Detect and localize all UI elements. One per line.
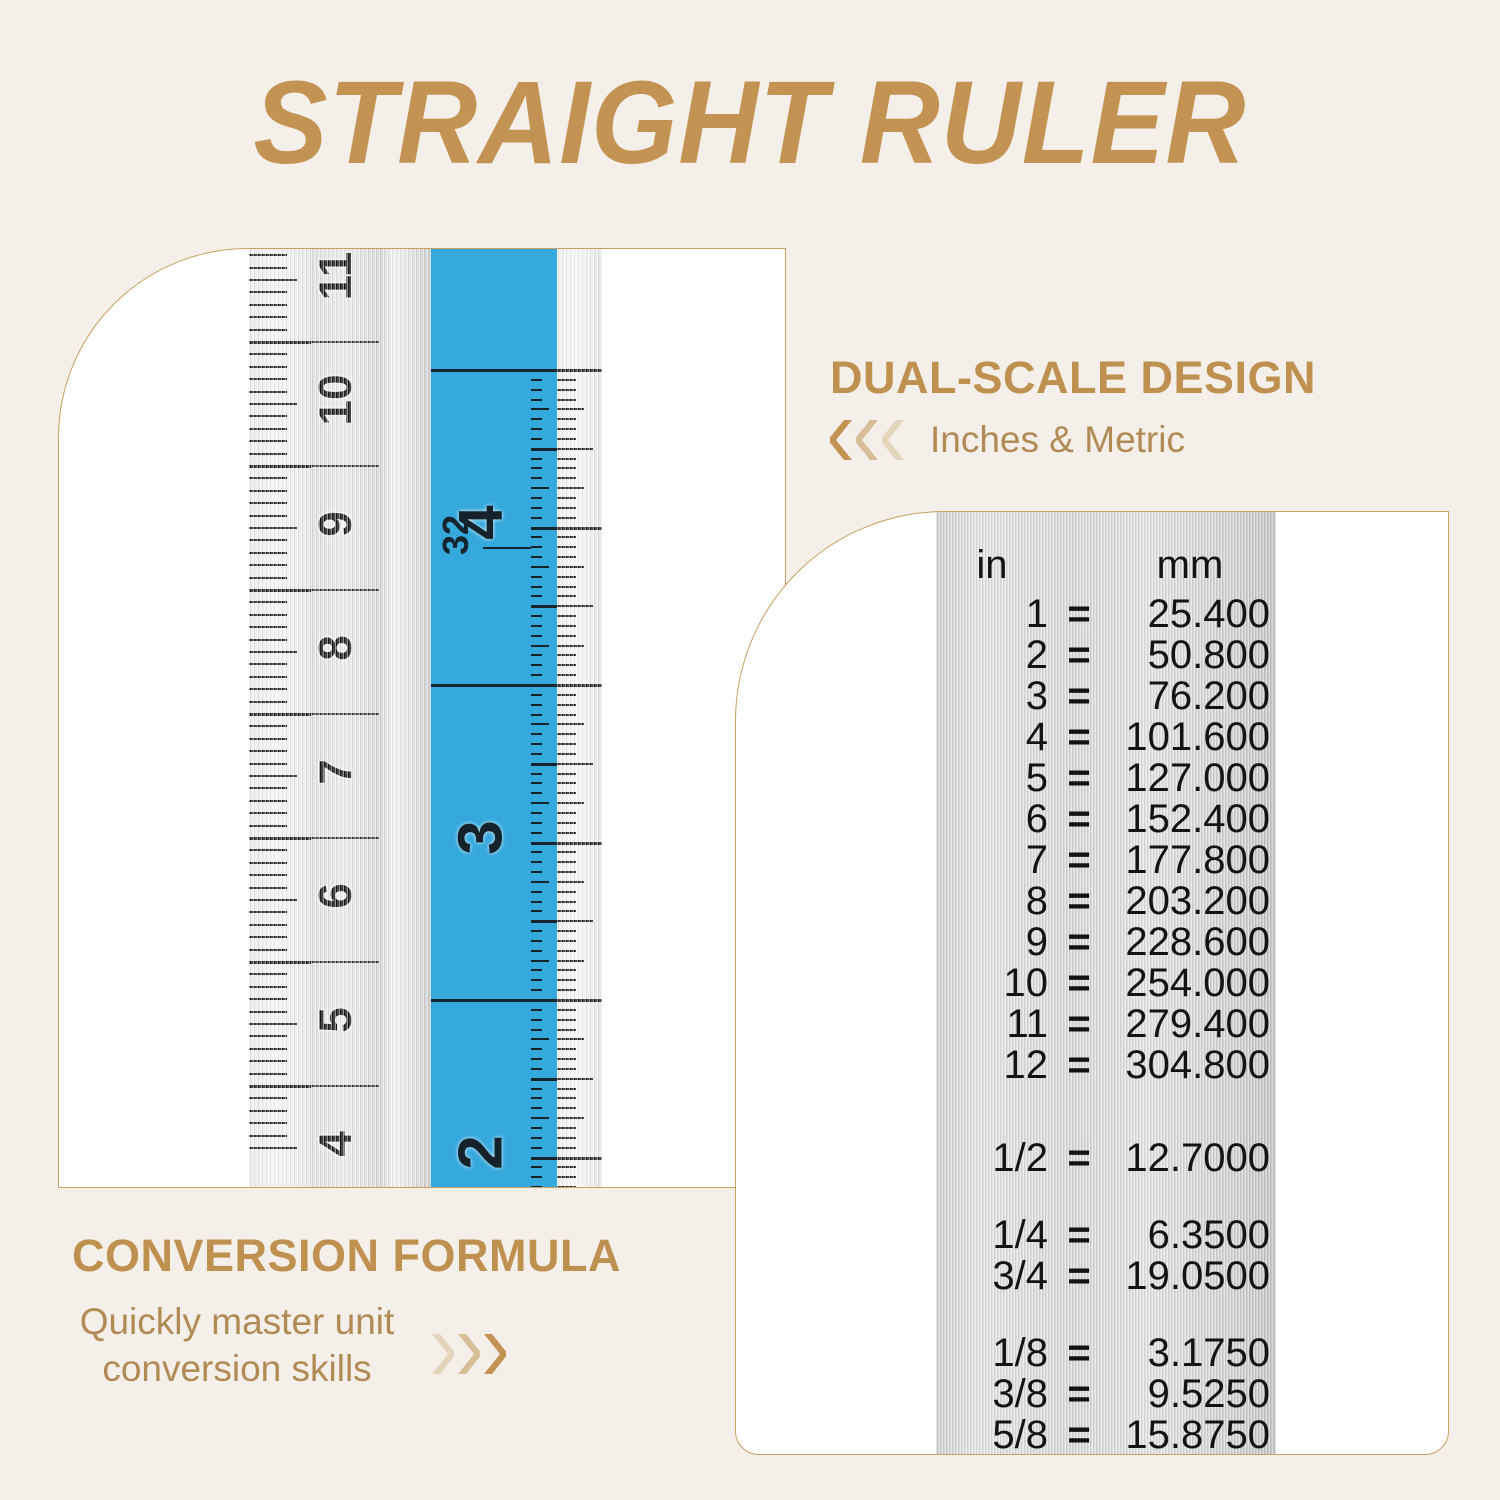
ruler-tick [531,861,542,863]
ruler-tick [531,989,542,991]
ruler-inch-label: 3 [446,782,517,892]
ruler-tick [531,389,542,391]
ruler-tick [249,874,287,876]
ruler-fraction-divider [483,547,531,549]
ruler-cm-label: 4 [308,1104,362,1184]
table-row: 5=127.000 [936,758,1276,799]
ruler-tick [249,1147,297,1149]
ruler-tick [557,1127,576,1129]
page-title: STRAIGHT RULER [45,55,1455,191]
cell-mm: 9.5250 [1110,1372,1270,1417]
ruler-inch-divider [431,684,531,687]
ruler-tick [557,389,576,391]
ruler-tick [557,1078,593,1080]
ruler-tick [557,743,576,745]
ruler-tick [249,1085,311,1088]
ruler-tick [557,448,593,450]
table-row: 11=279.400 [936,1004,1276,1045]
ruler-tick [531,782,542,784]
table-row: 1/8=3.1750 [936,1333,1276,1374]
ruler-tick [557,1117,584,1119]
ruler-tick [249,800,287,802]
ruler-tick [249,701,287,703]
ruler-tick [249,391,287,393]
ruler-tick [249,787,287,789]
ruler-tick [557,477,576,479]
ruler-tick [249,936,287,938]
ruler-tick [531,507,542,509]
ruler-tick [557,1009,576,1011]
cell-mm: 12.7000 [1110,1136,1270,1181]
ruler-tick [531,1097,542,1099]
ruler-tick [531,497,542,499]
ruler-tick [249,1135,287,1137]
ruler-cm-divider [311,713,379,715]
ruler-tick [249,577,287,579]
ruler-tick [531,1137,542,1139]
cell-in: 2 [936,633,1048,678]
ruler-tick [531,733,542,735]
ruler-tick [531,851,542,853]
ruler-tick [557,1166,576,1168]
cell-in: 1 [936,592,1048,637]
ruler-tick [531,1166,542,1168]
ruler-tick [557,645,584,647]
ruler-plain-metal-band [379,249,431,1187]
ruler-tick [557,891,576,893]
ruler-tick [249,1035,287,1037]
ruler-tick [249,688,287,690]
cell-equals: = [1048,1213,1110,1258]
ruler-tick [531,1088,542,1090]
ruler-tick [531,743,542,745]
ruler-tick [557,950,576,952]
ruler-tick [249,911,287,913]
ruler-tick [531,792,542,794]
ruler-tick [249,428,287,430]
conversion-table: in mm 1=25.4002=50.8003=76.2004=101.6005… [936,512,1276,1454]
ruler-tick [531,1147,542,1149]
table-row: 1/4=6.3500 [936,1215,1276,1256]
ruler-tick [249,353,287,355]
header-mm: mm [1110,543,1270,588]
ruler-image: 1110987654 43232 [249,249,602,1187]
conversion-table-panel: in mm 1=25.4002=50.8003=76.2004=101.6005… [735,511,1449,1455]
ruler-cm-label: 10 [308,360,362,440]
ruler-tick [249,663,287,665]
cell-mm: 203.200 [1110,879,1270,924]
chevron-right-icon-3 [480,1332,506,1376]
ruler-tick [557,782,576,784]
cell-equals: = [1048,961,1110,1006]
ruler-tick [557,595,576,597]
ruler-tick [557,960,584,962]
ruler-cm-label: 7 [308,732,362,812]
cell-mm: 177.800 [1110,838,1270,883]
ruler-tick [557,1107,576,1109]
cell-equals: = [1048,1043,1110,1088]
cell-in: 7 [936,838,1048,883]
ruler-tick [531,940,542,942]
ruler-tick [249,862,287,864]
cell-equals: = [1048,1002,1110,1047]
ruler-tick [249,515,287,517]
half-inch-rows: 1/2=12.7000 [936,1138,1276,1179]
cell-in: 10 [936,961,1048,1006]
ruler-tick [557,832,576,834]
ruler-inch-divider [431,369,531,372]
ruler-tick [557,753,576,755]
chevron-right-icon-1 [428,1332,454,1376]
ruler-tick [249,1110,287,1112]
ruler-tick [249,415,287,417]
ruler-cm-label: 6 [308,856,362,936]
ruler-tick [531,910,542,912]
ruler-tick [249,961,311,964]
ruler-tick [531,832,542,834]
ruler-tick [531,1176,542,1178]
ruler-tick [557,586,576,588]
cell-equals: = [1048,715,1110,760]
eighth-inch-rows: 1/8=3.17503/8=9.52505/8=15.8750 [936,1333,1276,1455]
cell-mm: 15.8750 [1110,1413,1270,1455]
ruler-tick [531,1038,549,1040]
ruler-tick [249,949,287,951]
cell-in: 5 [936,756,1048,801]
table-row: 3/4=19.0500 [936,1256,1276,1297]
ruler-tick [557,497,576,499]
table-row: 3/8=9.5250 [936,1374,1276,1415]
ruler-tick [531,802,549,804]
ruler-tick [531,635,542,637]
ruler-tick [557,527,602,530]
cell-mm: 19.0500 [1110,1254,1270,1299]
cell-in: 6 [936,797,1048,842]
table-row: 3=76.200 [936,676,1276,717]
header-in: in [936,543,1048,588]
ruler-tick [557,566,584,568]
cell-in: 1/2 [936,1136,1048,1181]
ruler-tick [531,704,542,706]
ruler-tick [531,605,557,608]
table-row: 8=203.200 [936,881,1276,922]
ruler-cm-divider [311,961,379,963]
ruler-tick [531,714,542,716]
ruler-tick [249,254,287,256]
ruler-tick [557,1097,576,1099]
cell-mm: 101.600 [1110,715,1270,760]
conversion-formula-section: CONVERSION FORMULA Quickly master unit c… [72,1230,621,1393]
ruler-mm-tick-band [249,249,311,1187]
table-row: 6=152.400 [936,799,1276,840]
ruler-tick [531,664,542,666]
cell-mm: 304.800 [1110,1043,1270,1088]
ruler-tick [557,1038,584,1040]
ruler-cm-divider [311,1085,379,1087]
cell-in: 3/4 [936,1254,1048,1299]
ruler-tick [249,304,287,306]
ruler-tick [531,960,549,962]
ruler-cm-label: 11 [308,248,362,316]
ruler-cm-number-band: 1110987654 [311,249,379,1187]
ruler-tick [249,998,287,1000]
ruler-tick [531,1068,542,1070]
ruler-tick [249,490,287,492]
ruler-tick [531,1048,542,1050]
ruler-tick [557,773,576,775]
ruler-tick [557,635,576,637]
ruler-tick [249,564,287,566]
cell-mm: 152.400 [1110,797,1270,842]
ruler-tick [557,408,584,410]
ruler-inch-tick-band [557,249,602,1187]
whole-inch-rows: 1=25.4002=50.8003=76.2004=101.6005=127.0… [936,594,1276,1086]
ruler-tick [557,881,584,883]
ruler-tick [531,930,542,932]
cell-equals: = [1048,756,1110,801]
ruler-tick [531,822,542,824]
ruler-tick [557,664,576,666]
ruler-tick [531,842,557,845]
cell-in: 12 [936,1043,1048,1088]
ruler-tick [557,1019,576,1021]
ruler-tick [531,595,542,597]
ruler-tick [249,973,287,975]
ruler-tick [531,1127,542,1129]
ruler-tick [531,438,542,440]
ruler-tick [531,586,542,588]
ruler-tick [557,694,576,696]
ruler-tick [249,366,287,368]
ruler-tick [531,753,542,755]
ruler-tick [557,723,584,725]
ruler-tick [249,614,287,616]
ruler-tick [531,694,542,696]
cell-in: 9 [936,920,1048,965]
ruler-tick [557,428,576,430]
ruler-tick [249,1023,297,1025]
ruler-tick [249,453,287,455]
ruler-tick [249,589,311,592]
ruler-tick [249,1122,287,1124]
dual-scale-heading: DUAL-SCALE DESIGN [830,352,1316,404]
ruler-tick [531,901,542,903]
ruler-tick [531,408,549,410]
ruler-tick [557,792,576,794]
ruler-tick [557,576,576,578]
ruler-tick [557,1176,576,1178]
cell-equals: = [1048,1372,1110,1417]
ruler-tick [557,654,576,656]
ruler-tick [557,940,576,942]
ruler-tick [531,1009,542,1011]
ruler-tick [557,989,576,991]
cell-mm: 25.400 [1110,592,1270,637]
table-row: 1=25.400 [936,594,1276,635]
ruler-tick [249,986,287,988]
table-row: 9=228.600 [936,922,1276,963]
ruler-tick [531,950,542,952]
table-gap-2 [936,1179,1276,1215]
dual-scale-section: DUAL-SCALE DESIGN Inches & Metric [830,352,1316,462]
ruler-tick [531,566,549,568]
ruler-tick [249,738,287,740]
ruler-tick [249,713,311,716]
table-gap-1 [936,1086,1276,1138]
ruler-tick [249,1060,287,1062]
ruler-tick [249,1097,287,1099]
ruler-cm-divider [311,589,379,591]
cell-equals: = [1048,674,1110,719]
cell-equals: = [1048,879,1110,924]
ruler-tick [557,418,576,420]
cell-equals: = [1048,838,1110,883]
ruler-tick [531,458,542,460]
ruler-cm-divider [311,837,379,839]
ruler-tick [249,279,297,281]
ruler-tick [557,969,576,971]
quarter-inch-rows: 1/4=6.35003/4=19.0500 [936,1215,1276,1297]
ruler-tick [557,1048,576,1050]
cell-equals: = [1048,1136,1110,1181]
ruler-tick [531,615,542,617]
ruler-tick [557,1068,576,1070]
cell-equals: = [1048,797,1110,842]
table-header-row: in mm [936,536,1276,594]
ruler-tick [249,1011,287,1013]
ruler-tick [557,1029,576,1031]
table-row: 4=101.600 [936,717,1276,758]
ruler-tick [531,645,549,647]
ruler-tick [557,546,576,548]
ruler-tick [557,487,584,489]
ruler-tick [531,418,542,420]
ruler-tick [249,477,287,479]
cell-in: 8 [936,879,1048,924]
ruler-tick [557,615,576,617]
ruler-tick [531,517,542,519]
ruler-tick [557,507,576,509]
ruler-inch-label: 2 [446,1097,517,1188]
ruler-tick [557,1088,576,1090]
ruler-tick [249,552,287,554]
cell-equals: = [1048,920,1110,965]
ruler-tick [557,733,576,735]
ruler-tick [531,1157,557,1160]
table-row: 1/2=12.7000 [936,1138,1276,1179]
ruler-tick [249,1048,287,1050]
ruler-photo-panel: 1110987654 43232 [58,248,786,1188]
cell-mm: 50.800 [1110,633,1270,678]
ruler-blue-inch-band: 43232 [431,249,531,1187]
ruler-tick [557,979,576,981]
chevron-right-icon-2 [454,1332,480,1376]
ruler-tick [531,379,542,381]
chevron-left-icon-1 [830,418,856,462]
ruler-tick [249,837,311,840]
table-row: 5/8=15.8750 [936,1415,1276,1455]
cell-equals: = [1048,1331,1110,1376]
ruler-tick [249,440,287,442]
ruler-tick [531,399,542,401]
conversion-formula-subheading: Quickly master unit conversion skills [72,1298,402,1393]
cell-in: 4 [936,715,1048,760]
ruler-cm-label: 5 [308,980,362,1060]
ruler-tick [531,654,542,656]
conversion-formula-subheading-line2: conversion skills [72,1345,402,1392]
ruler-tick [249,812,287,814]
ruler-tick [249,825,287,827]
cell-equals: = [1048,592,1110,637]
ruler-cm-divider [311,465,379,467]
ruler-tick [557,812,576,814]
ruler-tick [557,822,576,824]
ruler-tick [557,1137,576,1139]
ruler-tick [531,527,557,530]
ruler-tick [249,316,287,318]
ruler-tick [557,379,576,381]
ruler-tick [249,924,287,926]
ruler-tick [531,881,549,883]
ruler-tick [531,1107,542,1109]
ruler-tick [557,802,584,804]
table-row: 7=177.800 [936,840,1276,881]
ruler-tick [249,291,287,293]
ruler-tick [557,536,576,538]
cell-in: 1/4 [936,1213,1048,1258]
ruler-tick [531,369,557,372]
ruler-tick [557,842,602,845]
ruler-tick [531,891,542,893]
ruler-tick [531,871,542,873]
ruler-tick [531,477,542,479]
ruler-tick [531,723,549,725]
ruler-tick [531,448,557,451]
ruler-tick [557,399,576,401]
ruler-tick [531,969,542,971]
ruler-tick [557,901,576,903]
ruler-tick [531,763,557,766]
ruler-tick [249,676,287,678]
ruler-tick [531,1029,542,1031]
table-gap-3 [936,1297,1276,1333]
ruler-tick [531,773,542,775]
ruler-tick [249,1073,287,1075]
ruler-cm-divider [311,341,379,343]
ruler-tick [531,979,542,981]
ruler-tick [249,849,287,851]
chevron-left-icon-2 [856,418,882,462]
ruler-tick [557,517,576,519]
ruler-tick [249,750,287,752]
ruler-tick [249,378,287,380]
ruler-tick [249,725,287,727]
cell-in: 1/8 [936,1331,1048,1376]
ruler-tick [557,625,576,627]
ruler-tick [557,369,602,372]
ruler-cm-label: 9 [308,484,362,564]
ruler-tick [531,812,542,814]
cell-mm: 279.400 [1110,1002,1270,1047]
ruler-tick [531,1019,542,1021]
ruler-tick [249,539,287,541]
conversion-formula-subheading-line1: Quickly master unit [72,1298,402,1345]
cell-mm: 228.600 [1110,920,1270,965]
ruler-cm-label: 8 [308,608,362,688]
ruler-tick [557,910,576,912]
ruler-tick [249,626,287,628]
ruler-tick [557,1058,576,1060]
